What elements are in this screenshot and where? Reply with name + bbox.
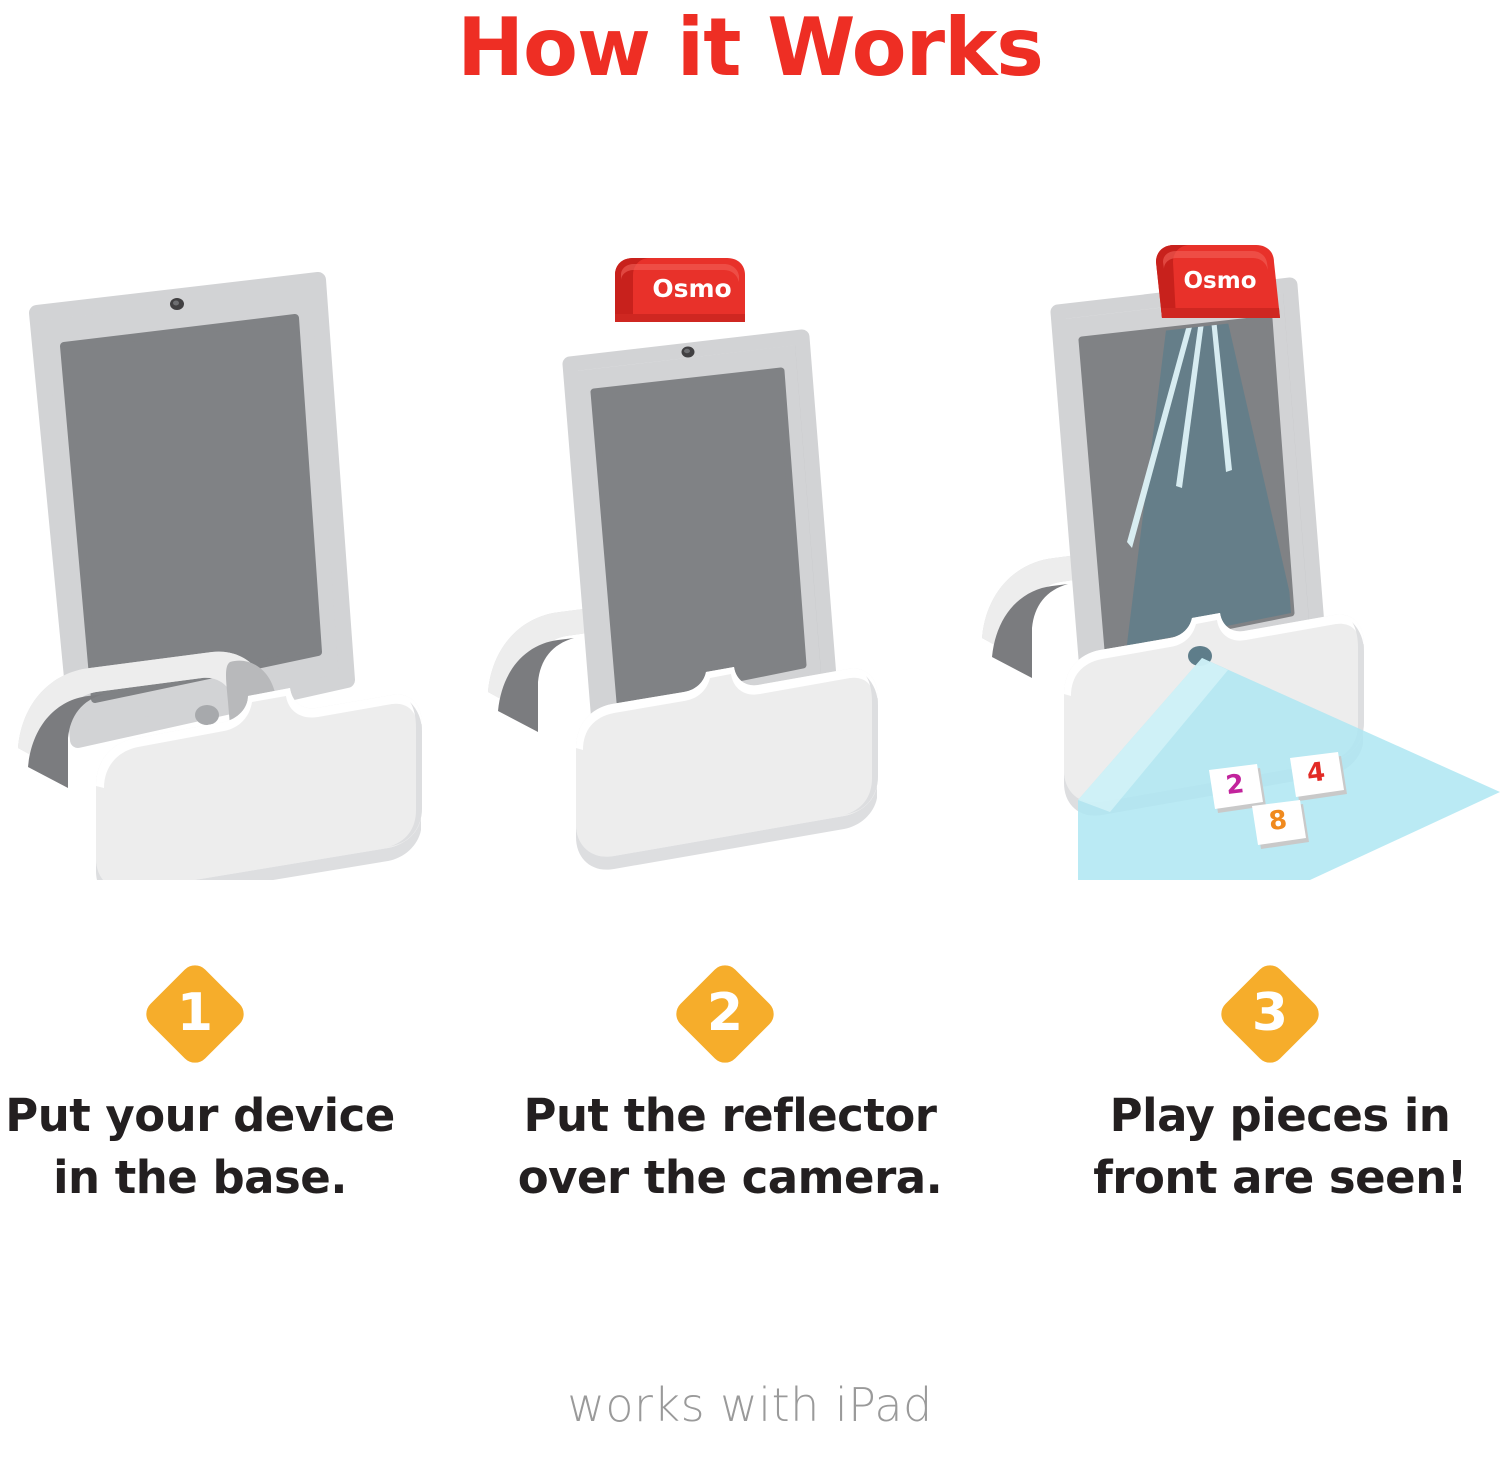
how-it-works-infographic: How it Works xyxy=(0,0,1500,1460)
step-caption-1: Put your device in the base. xyxy=(0,1085,400,1209)
caption-line: in the base. xyxy=(0,1147,400,1209)
tile-value-2: 2 xyxy=(1224,769,1246,801)
step-badge-1: 1 xyxy=(141,960,249,1068)
caption-line: front are seen! xyxy=(1060,1147,1500,1209)
tablet-device xyxy=(570,337,830,735)
caption-line: Play pieces in xyxy=(1060,1085,1500,1147)
tile-value-4: 4 xyxy=(1305,757,1327,789)
play-piece-tile: 8 xyxy=(1252,800,1309,849)
compatibility-note: works with iPad xyxy=(0,1378,1500,1432)
caption-line: over the camera. xyxy=(490,1147,970,1209)
step-number-badges: 1 2 3 xyxy=(0,960,1500,1072)
osmo-logo-text: Osmo xyxy=(652,274,731,303)
badge-number: 1 xyxy=(141,960,249,1068)
step-caption-3: Play pieces in front are seen! xyxy=(1060,1085,1500,1209)
caption-line: Put your device xyxy=(0,1085,400,1147)
play-piece-tile: 4 xyxy=(1290,752,1347,801)
step-2-illustration: Osmo xyxy=(470,240,970,880)
step-badge-2: 2 xyxy=(671,960,779,1068)
tile-value-8: 8 xyxy=(1267,805,1289,837)
page-title: How it Works xyxy=(0,2,1500,94)
step-3-illustration: Osmo xyxy=(960,240,1460,880)
step-captions: Put your device in the base. Put the ref… xyxy=(0,1085,1500,1265)
tablet-home-button xyxy=(195,705,219,725)
step-badge-3: 3 xyxy=(1216,960,1324,1068)
osmo-reflector: Osmo xyxy=(615,258,745,322)
illustration-row: Osmo xyxy=(0,240,1500,880)
osmo-reflector: Osmo xyxy=(1156,245,1280,318)
step-caption-2: Put the reflector over the camera. xyxy=(490,1085,970,1209)
caption-line: Put the reflector xyxy=(490,1085,970,1147)
badge-number: 2 xyxy=(671,960,779,1068)
badge-number: 3 xyxy=(1216,960,1324,1068)
step-1-illustration xyxy=(0,240,500,880)
osmo-logo-text: Osmo xyxy=(1183,268,1256,294)
